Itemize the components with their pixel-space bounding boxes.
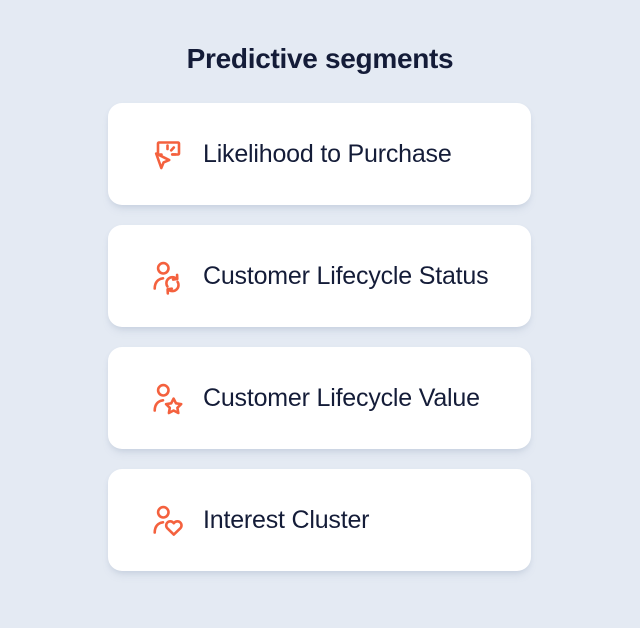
page-title: Predictive segments: [0, 40, 640, 78]
cursor-click-box-icon: [145, 132, 189, 176]
segment-card-label: Likelihood to Purchase: [203, 140, 452, 169]
person-star-icon: [145, 376, 189, 420]
segment-card-likelihood-to-purchase[interactable]: Likelihood to Purchase: [108, 103, 531, 205]
segment-card-label: Interest Cluster: [203, 506, 369, 535]
predictive-segments-page: Predictive segments Likelihood to Purcha…: [0, 0, 640, 628]
segment-card-list: Likelihood to Purchase Customer Lifecycl…: [108, 103, 531, 571]
segment-card-customer-lifecycle-value[interactable]: Customer Lifecycle Value: [108, 347, 531, 449]
person-heart-icon: [145, 498, 189, 542]
segment-card-label: Customer Lifecycle Status: [203, 262, 488, 291]
segment-card-interest-cluster[interactable]: Interest Cluster: [108, 469, 531, 571]
person-refresh-icon: [145, 254, 189, 298]
segment-card-label: Customer Lifecycle Value: [203, 384, 480, 413]
segment-card-customer-lifecycle-status[interactable]: Customer Lifecycle Status: [108, 225, 531, 327]
